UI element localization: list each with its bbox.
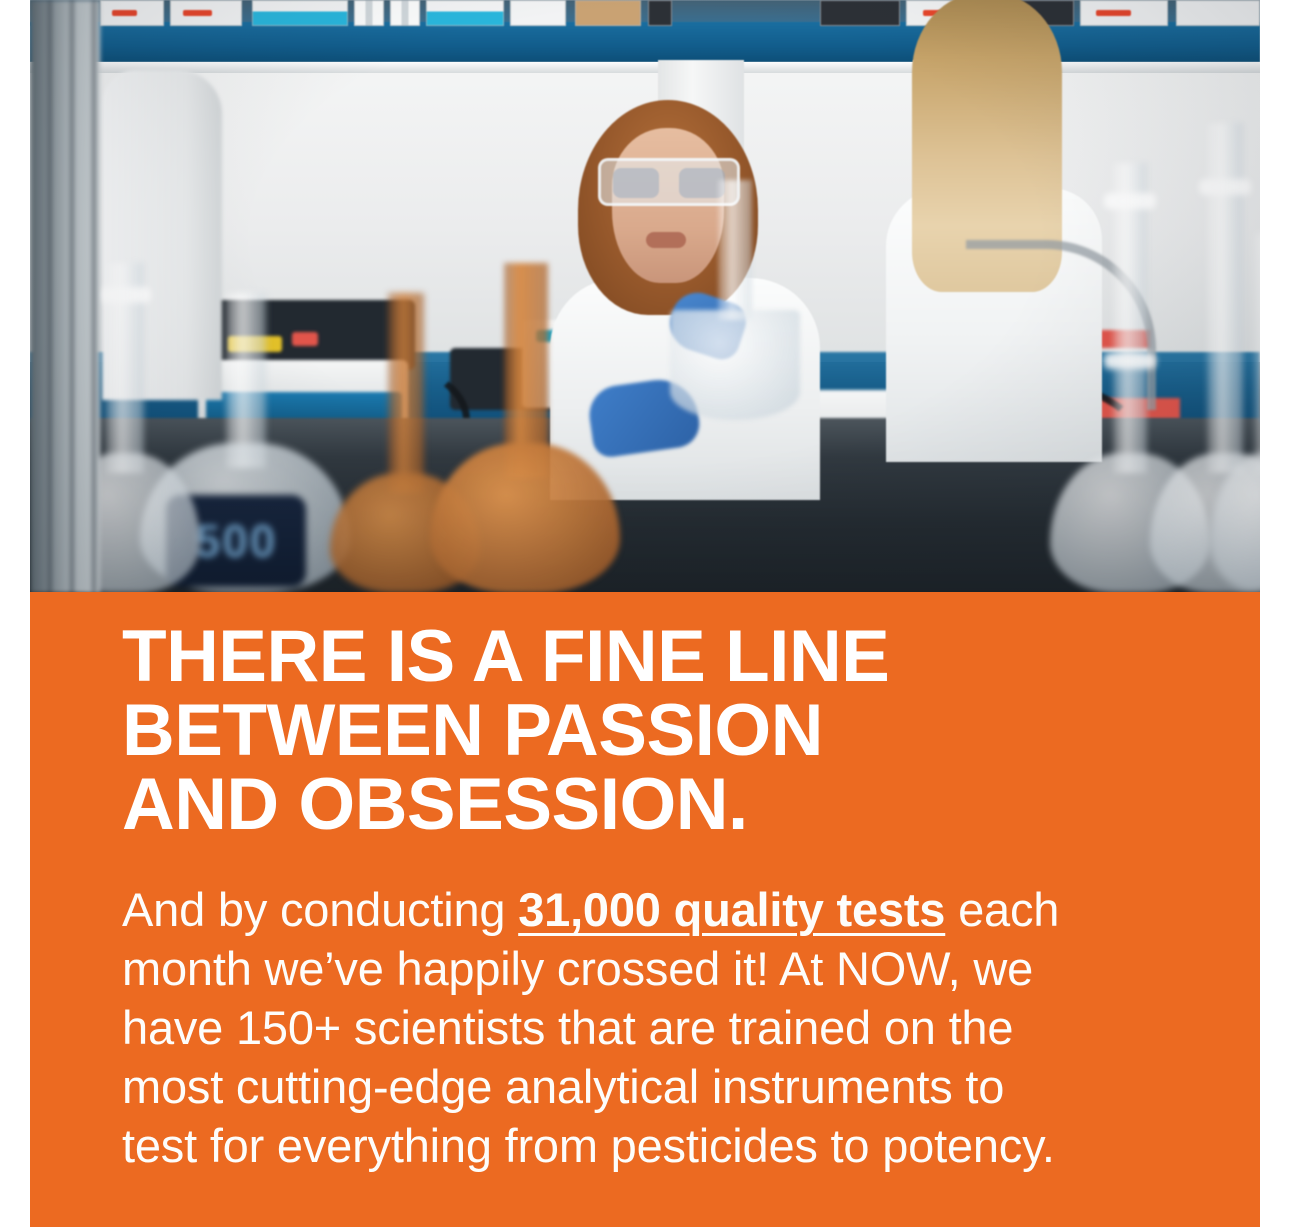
flask-band <box>1104 193 1156 209</box>
flask-neck <box>718 180 752 320</box>
erlenmeyer-flask <box>670 180 800 420</box>
body-line-1-post: each <box>945 883 1059 936</box>
body-line-1: And by conducting 31,000 quality tests e… <box>122 880 1192 939</box>
emphasis-quality-tests: 31,000 quality tests <box>518 883 945 936</box>
shelf-box <box>170 0 242 26</box>
shelf-box <box>510 0 566 26</box>
body-line-5: test for everything from pesticides to p… <box>122 1116 1192 1175</box>
flask-band <box>99 287 151 303</box>
flask-bulb <box>430 443 620 593</box>
frame-slat <box>92 0 96 593</box>
headline-line-3: AND OBSESSION. <box>122 768 1182 842</box>
page-title: THERE IS A FINE LINE BETWEEN PASSION AND… <box>122 620 1182 842</box>
shelf-box <box>426 0 504 26</box>
flask-bulb <box>1210 453 1260 593</box>
headline-line-1: THERE IS A FINE LINE <box>122 620 1182 694</box>
shelf-box <box>575 0 641 26</box>
flask-neck <box>1255 233 1260 473</box>
flask-neck <box>1113 163 1147 473</box>
flask-neck <box>226 293 266 468</box>
promo-page: 500 <box>0 0 1290 1227</box>
flask-band <box>1199 179 1251 195</box>
body-line-1-pre: And by conducting <box>122 883 518 936</box>
frame-slat <box>48 0 52 593</box>
orange-content-panel: THERE IS A FINE LINE BETWEEN PASSION AND… <box>30 592 1260 1227</box>
lab-photo: 500 <box>30 0 1260 593</box>
volumetric-flask-edge <box>1210 233 1260 593</box>
shelf-box <box>252 0 348 26</box>
flask-band <box>1104 353 1156 369</box>
shelf-box <box>354 0 384 26</box>
frame-slat <box>70 0 74 593</box>
body-line-3: have 150+ scientists that are trained on… <box>122 998 1192 1057</box>
headline-line-2: BETWEEN PASSION <box>122 694 1182 768</box>
body-line-2: month we’ve happily crossed it! At NOW, … <box>122 939 1192 998</box>
flask-bulb <box>670 310 800 420</box>
shelf-box <box>1176 0 1260 26</box>
body-line-4: most cutting-edge analytical instruments… <box>122 1057 1192 1116</box>
shelf-box <box>390 0 420 26</box>
flask-neck <box>388 293 424 493</box>
volumetric-flask-amber <box>430 263 620 593</box>
shelf-box <box>648 0 672 26</box>
shelf-box <box>100 0 164 26</box>
door-frame <box>30 0 100 593</box>
body-paragraph: And by conducting 31,000 quality tests e… <box>122 880 1192 1175</box>
